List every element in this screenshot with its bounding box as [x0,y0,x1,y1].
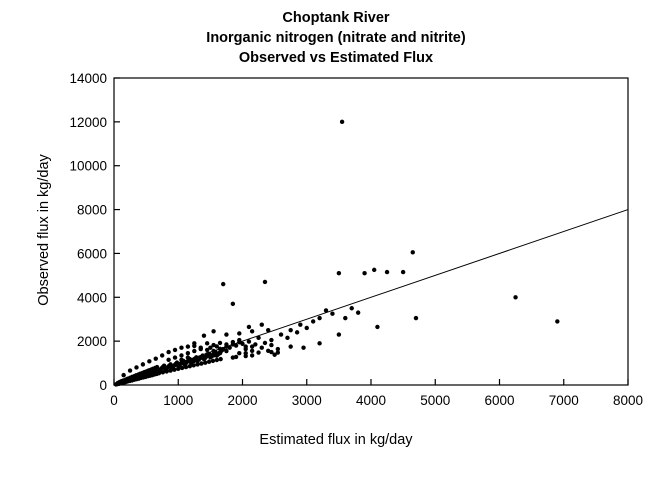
svg-text:7000: 7000 [549,393,579,408]
x-axis-label: Estimated flux in kg/day [0,432,672,448]
data-points [114,120,560,387]
y-axis-label: Observed flux in kg/day [36,100,52,360]
svg-text:6000: 6000 [77,246,107,261]
svg-text:2000: 2000 [77,334,107,349]
svg-text:5000: 5000 [420,393,450,408]
scatter-plot-canvas: 0200040006000800010000120001400001000200… [0,0,672,480]
svg-text:8000: 8000 [77,203,107,218]
svg-text:4000: 4000 [77,290,107,305]
svg-text:10000: 10000 [69,159,107,174]
chart-figure: Choptank River Inorganic nitrogen (nitra… [0,0,672,480]
tick-marks [114,78,628,385]
svg-text:4000: 4000 [356,393,386,408]
svg-text:8000: 8000 [613,393,643,408]
svg-text:0: 0 [99,378,107,393]
svg-text:3000: 3000 [292,393,322,408]
svg-text:6000: 6000 [484,393,514,408]
svg-text:1000: 1000 [163,393,193,408]
plot-axes [114,78,628,385]
svg-text:2000: 2000 [227,393,257,408]
svg-text:0: 0 [110,393,118,408]
svg-text:14000: 14000 [69,71,107,86]
svg-text:12000: 12000 [69,115,107,130]
